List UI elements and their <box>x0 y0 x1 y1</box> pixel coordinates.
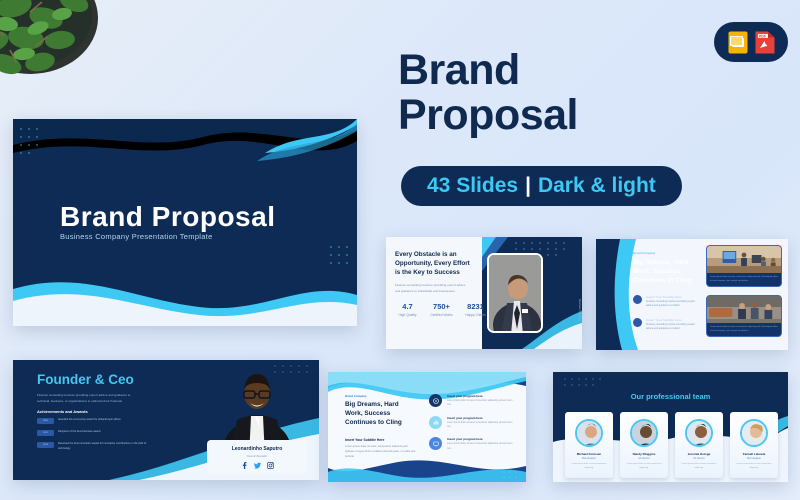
image-card-caption: Lorem ipsum dolor sit amet, consectetur … <box>707 273 781 286</box>
member-name: Michael Fortesen <box>565 452 613 456</box>
avatar <box>685 419 713 447</box>
year-chip: 2023 <box>37 442 54 448</box>
stat-value: 4.7 <box>394 302 421 311</box>
team-member-card[interactable]: Farwell Lebeeta Web designer Lorem ipsum… <box>730 412 778 478</box>
achievement-text: Awarded the community award for philanth… <box>58 418 121 424</box>
check-circle-icon <box>633 318 642 327</box>
member-role: Art director <box>620 458 668 460</box>
slide-hero-background: Brand Proposal Business Company Presenta… <box>13 119 357 326</box>
twitter-icon[interactable] <box>254 462 261 469</box>
page-title: Brand Proposal <box>398 48 778 137</box>
founder-heading: Founder & Ceo <box>37 372 134 387</box>
presentation-icon <box>429 437 442 450</box>
stat-item: 4.7 High Quality <box>394 302 421 317</box>
bullet-title: Insert Your Subtitle Here <box>646 318 699 322</box>
member-photo <box>632 421 658 447</box>
member-photo <box>577 421 603 447</box>
avatar <box>575 419 603 447</box>
stats-vertical-label: Business Company <box>578 299 581 321</box>
social-links <box>207 462 307 469</box>
feature-text: Lorem ipsum dolor sit amet consectetur a… <box>447 421 514 430</box>
stat-item: 750+ Certified Works <box>428 302 455 317</box>
stat-value: 750+ <box>428 302 455 311</box>
bullet-title: Insert Your Subtitle Here <box>646 295 699 299</box>
member-role: Web designer <box>565 458 613 460</box>
potted-plant-decoration <box>0 0 150 106</box>
slide-preview-dreams-dark[interactable]: Brand Company Big Dreams, Hard Work, Suc… <box>596 239 788 350</box>
theme-variant-label: Dark & light <box>538 174 656 198</box>
stat-label: Certified Works <box>428 313 455 317</box>
stat-label: Happy Clients <box>462 313 489 317</box>
instagram-icon[interactable] <box>267 462 274 469</box>
member-bio: Lorem ipsum dolor sit amet consectetur a… <box>730 463 778 470</box>
member-name: Randy Ringgins <box>620 452 668 456</box>
target-icon <box>429 394 442 407</box>
list-item: Insert your program here Lorem ipsum dol… <box>429 394 514 408</box>
team-member-card[interactable]: Randy Ringgins Art director Lorem ipsum … <box>620 412 668 478</box>
image-card-caption: Lorem ipsum dolor sit amet, consectetur … <box>707 323 781 336</box>
facebook-icon[interactable] <box>241 462 248 469</box>
bullet-text: Finance consulting involves providing ex… <box>646 300 699 309</box>
stats-portrait-photo <box>487 253 543 333</box>
list-item: Insert your program here Lorem ipsum dol… <box>429 416 514 430</box>
achievement-text: Recipient of the best business award <box>58 430 100 436</box>
avatar <box>630 419 658 447</box>
team-heading: Our professional team <box>553 392 788 401</box>
slide-preview-team[interactable]: Our professional team Michael Fortesen W… <box>553 372 788 482</box>
dreams-light-kicker: Brand Company <box>345 394 367 398</box>
feature-title: Insert your program here <box>447 416 514 420</box>
slide-preview-founder[interactable]: Founder & Ceo Finance consulting involve… <box>13 360 319 480</box>
feature-title: Insert your program here <box>447 437 514 441</box>
check-circle-icon <box>633 295 642 304</box>
chart-icon <box>429 416 442 429</box>
hero-title-line-2: Proposal <box>398 93 778 138</box>
hero-title-line-1: Brand <box>398 48 778 93</box>
slide-preview-dreams-light[interactable]: Brand Company Big Dreams, Hard Work, Suc… <box>328 372 526 482</box>
member-name: Jeromia Hotoge <box>675 452 723 456</box>
stat-label: High Quality <box>394 313 421 317</box>
founder-paragraph: Finance consulting involves providing ex… <box>37 393 137 404</box>
team-member-card[interactable]: Jeromia Hotoge Art director Lorem ipsum … <box>675 412 723 478</box>
dreams-light-feature-list: Insert your program here Lorem ipsum dol… <box>429 394 514 459</box>
badge-separator: | <box>525 174 531 198</box>
member-photo <box>742 421 768 447</box>
member-role: Web designer <box>730 458 778 460</box>
dreams-image-card: Lorem ipsum dolor sit amet, consectetur … <box>706 295 782 337</box>
feature-text: Lorem ipsum dolor sit amet consectetur a… <box>447 442 514 451</box>
list-item: Insert Your Subtitle Here Finance consul… <box>633 295 699 309</box>
achievements-list: 2020 Awarded the community award for phi… <box>37 418 147 457</box>
team-member-card[interactable]: Michael Fortesen Web designer Lorem ipsu… <box>565 412 613 478</box>
founder-role: Ceo & founder <box>207 454 307 458</box>
dreams-dark-bullet-list: Insert Your Subtitle Here Finance consul… <box>633 295 699 341</box>
stats-paragraph: Finance consulting involves providing ex… <box>395 283 471 294</box>
year-chip: 2020 <box>37 418 54 424</box>
stats-heading: Every Obstacle is an Opportunity, Every … <box>395 250 473 277</box>
list-item: 2021 Recipient of the best business awar… <box>37 430 147 436</box>
member-bio: Lorem ipsum dolor sit amet consectetur a… <box>565 463 613 470</box>
year-chip: 2021 <box>37 430 54 436</box>
slide-hero-subtitle: Business Company Presentation Template <box>60 232 213 241</box>
avatar <box>740 419 768 447</box>
feature-title: Insert your program here <box>447 394 514 398</box>
achievements-heading: Achievements and Awards <box>37 409 88 414</box>
stats-metric-row: 4.7 High Quality 750+ Certified Works 82… <box>394 302 490 317</box>
achievement-text: Received the best innovation award for i… <box>58 442 147 451</box>
member-bio: Lorem ipsum dolor sit amet consectetur a… <box>620 463 668 470</box>
dreams-dark-title: Big Dreams, Hard Work, Success Continues… <box>633 258 697 286</box>
member-photo <box>687 421 713 447</box>
team-collaboration-photo <box>707 296 781 323</box>
dreams-image-card: Lorem ipsum dolor sit amet, consectetur … <box>706 245 782 287</box>
slides-count-badge: 43 Slides | Dark & light <box>401 166 682 206</box>
member-bio: Lorem ipsum dolor sit amet consectetur a… <box>675 463 723 470</box>
feature-text: Lorem ipsum dolor sit amet consectetur a… <box>447 399 514 408</box>
stat-value: 8231 <box>462 302 489 311</box>
dreams-light-title: Big Dreams, Hard Work, Success Continues… <box>345 401 415 428</box>
member-name: Farwell Lebeeta <box>730 452 778 456</box>
stat-item: 8231 Happy Clients <box>462 302 489 317</box>
slide-preview-stats[interactable]: Every Obstacle is an Opportunity, Every … <box>386 237 582 349</box>
slides-count-label: 43 Slides <box>427 174 518 198</box>
founder-name-card: Leonardinho Saputro Ceo & founder <box>207 440 307 474</box>
member-role: Art director <box>675 458 723 460</box>
team-member-cards: Michael Fortesen Web designer Lorem ipsu… <box>565 412 778 478</box>
list-item: Insert your program here Lorem ipsum dol… <box>429 437 514 451</box>
slide-preview-hero[interactable]: Brand Proposal Business Company Presenta… <box>13 119 357 326</box>
office-meeting-photo <box>707 246 781 273</box>
businessman-photo <box>489 255 543 333</box>
dreams-light-subheading: Insert Your Subtitle Here <box>345 438 384 442</box>
list-item: Insert Your Subtitle Here Finance consul… <box>633 318 699 332</box>
list-item: 2023 Received the best innovation award … <box>37 442 147 451</box>
dreams-light-subparagraph: Lorem ipsum dolor sit amet, consectetur … <box>345 445 417 460</box>
list-item: 2020 Awarded the community award for phi… <box>37 418 147 424</box>
svg-text:PDF: PDF <box>759 34 766 38</box>
dreams-dark-kicker: Brand Company <box>633 251 655 255</box>
founder-name: Leonardinho Saputro <box>207 446 307 452</box>
slide-hero-title: Brand Proposal <box>60 201 275 233</box>
bullet-text: Finance consulting involves providing ex… <box>646 323 699 332</box>
